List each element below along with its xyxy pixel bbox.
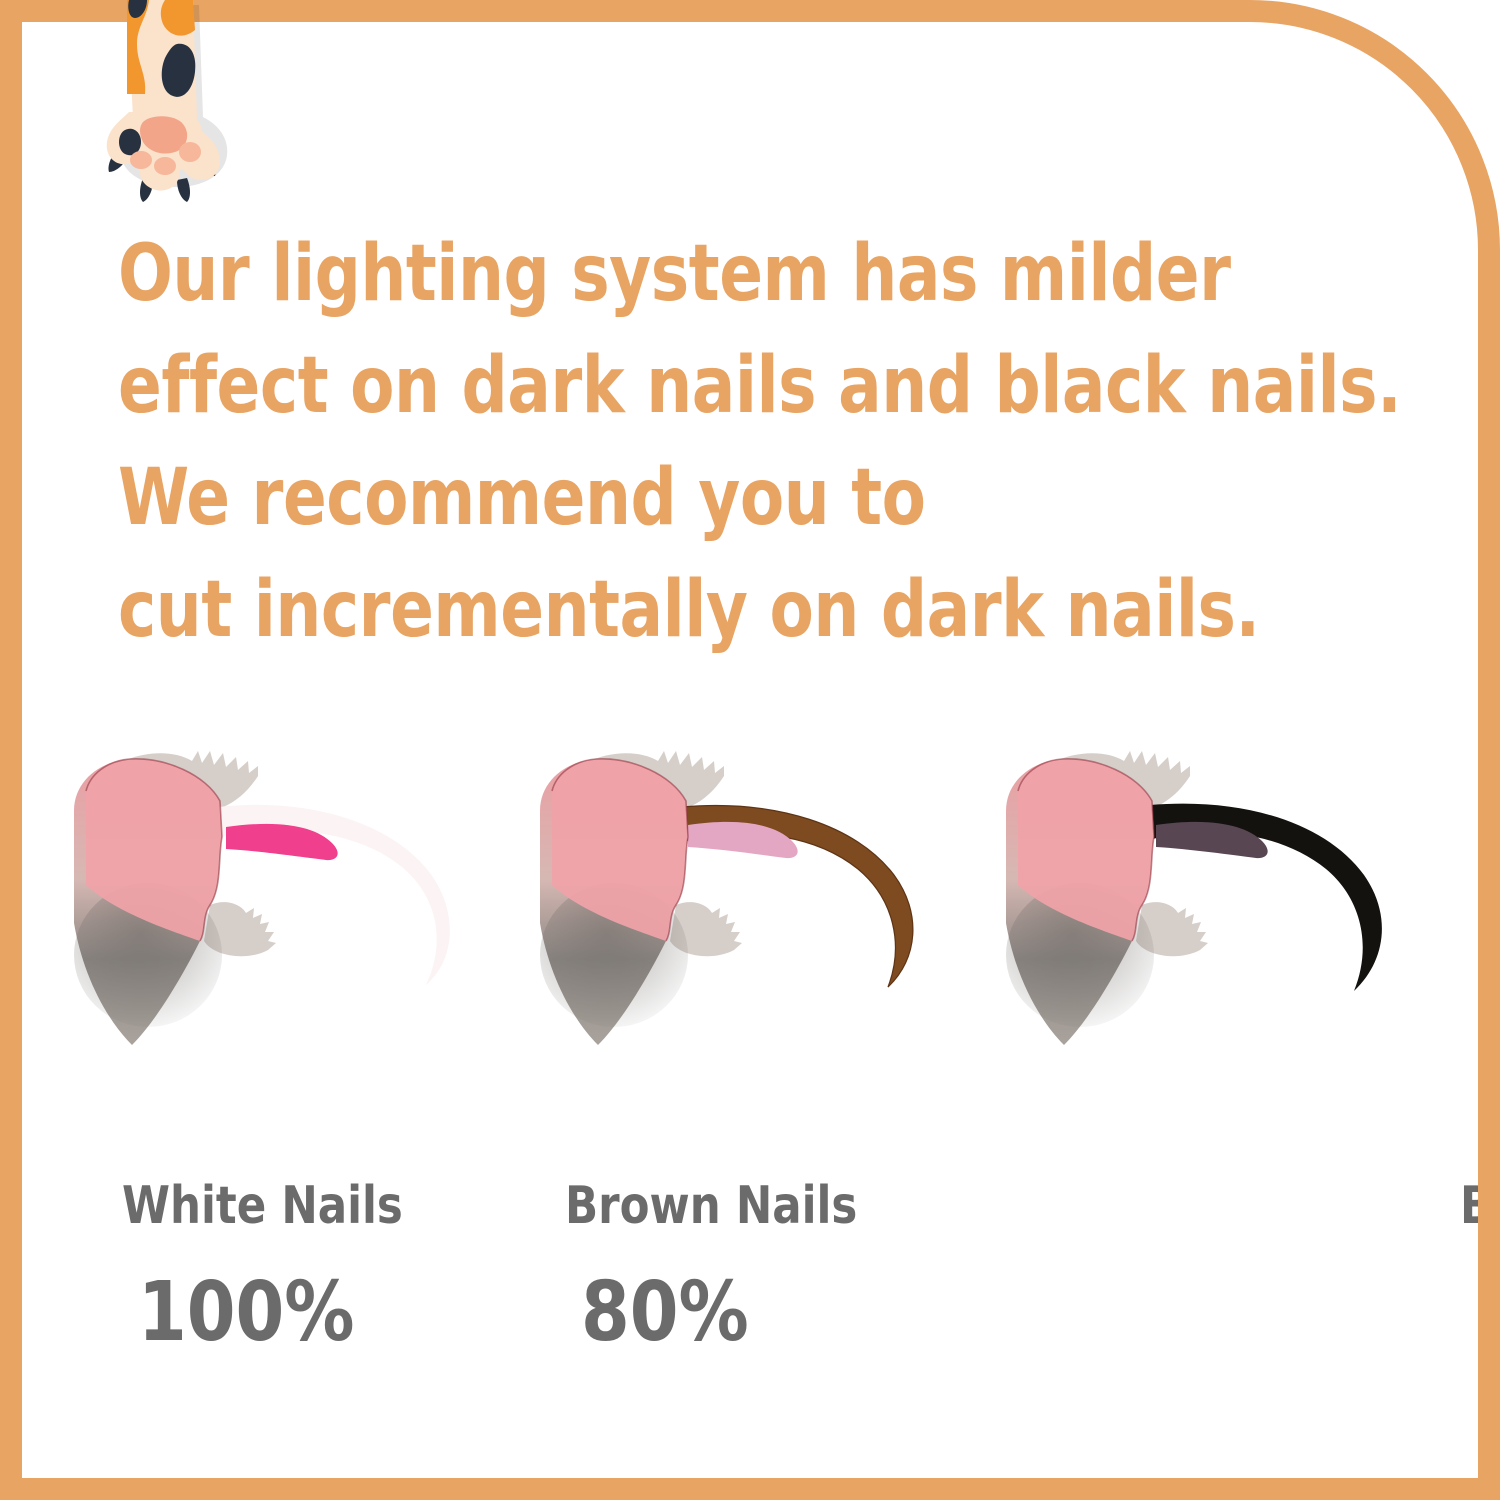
toe-bean-3 bbox=[179, 142, 201, 162]
nail-comparison-captions: White Nails 100% Brown Nails 80% Black N… bbox=[60, 1175, 1460, 1363]
caption-label: Brown Nails bbox=[565, 1175, 919, 1237]
caption-label: White Nails bbox=[122, 1175, 476, 1237]
headline-line-4: cut incrementally on dark nails. bbox=[118, 554, 1305, 666]
caption-black-nails: Black Nails 10% bbox=[945, 1175, 1460, 1363]
illustration-black-nails bbox=[992, 745, 1458, 1095]
headline-line-2: effect on dark nails and black nails. bbox=[118, 330, 1305, 442]
toe-bean-2 bbox=[154, 157, 176, 175]
cat-paw-icon bbox=[103, 0, 233, 205]
headline-line-1: Our lighting system has milder bbox=[118, 218, 1305, 330]
caption-brown-nails: Brown Nails 80% bbox=[503, 1175, 946, 1363]
cat-paw-decoration bbox=[103, 0, 233, 205]
caption-white-nails: White Nails 100% bbox=[60, 1175, 503, 1363]
headline-block: Our lighting system has milder effect on… bbox=[118, 218, 1408, 666]
infographic-page: Our lighting system has milder effect on… bbox=[0, 0, 1500, 1500]
paw-spot-dark bbox=[119, 129, 141, 156]
black-nail-diagram bbox=[992, 745, 1422, 1095]
illustration-white-nails bbox=[60, 745, 526, 1095]
toe-bean-1 bbox=[130, 151, 152, 169]
claw-mid-right bbox=[177, 178, 190, 202]
nail-comparison-illustrations bbox=[60, 745, 1460, 1095]
caption-percent: 100% bbox=[138, 1263, 484, 1363]
illustration-brown-nails bbox=[526, 745, 992, 1095]
headline-line-3: We recommend you to bbox=[118, 442, 1305, 554]
white-nail-diagram bbox=[60, 745, 490, 1095]
brown-nail-diagram bbox=[526, 745, 956, 1095]
caption-percent: 80% bbox=[581, 1263, 927, 1363]
